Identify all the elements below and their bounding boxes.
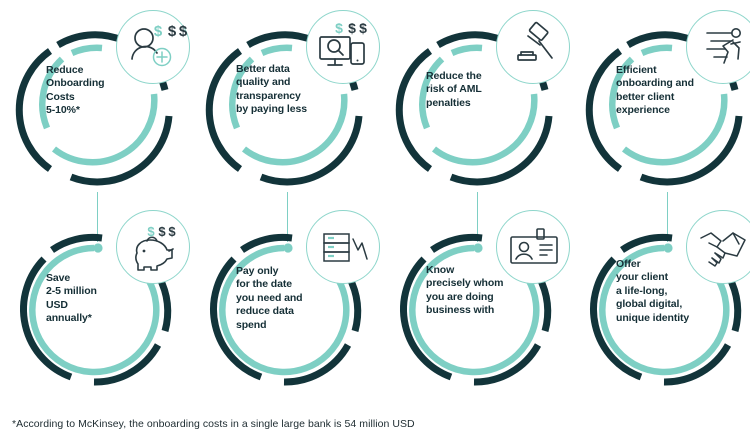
- badge-handshake[interactable]: [686, 210, 750, 284]
- inner-arc-top: [642, 48, 672, 53]
- outer-arc-right: [451, 116, 549, 182]
- outer-arc-upper-right: [349, 277, 358, 331]
- piggy-bank-dollar-icon: $ $ $: [117, 211, 191, 285]
- database-chart-icon: [307, 211, 381, 285]
- svg-text:$: $: [168, 23, 177, 40]
- connector-dot: [283, 243, 292, 252]
- runner-icon: [687, 11, 750, 85]
- badge-id-card[interactable]: [496, 210, 570, 284]
- node-efficient-onboarding: Efficient onboarding and better client e…: [576, 8, 750, 198]
- node-reduce-aml-risk: Reduce the risk of AML penalties: [386, 8, 571, 198]
- node-pay-only-for-data: Pay only for the date you need and reduc…: [196, 208, 381, 398]
- monitor-search-mobile-dollar-icon: $ $ $: [307, 11, 381, 85]
- svg-text:$: $: [147, 224, 155, 239]
- badge-gavel[interactable]: [496, 10, 570, 84]
- inner-arc-top: [72, 48, 102, 53]
- node-know-your-client: Know precisely whom you are doing busine…: [386, 208, 571, 398]
- footnote-text: *According to McKinsey, the onboarding c…: [12, 418, 415, 430]
- outer-arc-upper-right: [539, 277, 548, 331]
- outer-arc-right: [641, 116, 739, 182]
- outer-arc-right: [261, 116, 359, 182]
- badge-piggy-bank[interactable]: $ $ $: [116, 210, 190, 284]
- node-global-digital-identity: Offer your client a life-long, global di…: [576, 208, 750, 398]
- infographic-board: Reduce Onboarding Costs 5-10%* $ $ $: [0, 0, 750, 444]
- connector-dot: [93, 243, 102, 252]
- svg-text:$: $: [179, 23, 188, 40]
- node-better-data-quality: Better data quality and transparency by …: [196, 8, 381, 198]
- svg-text:$: $: [154, 23, 163, 40]
- outer-arc-right: [71, 116, 169, 182]
- connector-dot: [473, 243, 482, 252]
- badge-monitor-search-mobile[interactable]: $ $ $: [306, 10, 380, 84]
- svg-text:$: $: [359, 20, 367, 36]
- badge-user-add-dollar[interactable]: $ $ $: [116, 10, 190, 84]
- inner-arc-top: [262, 48, 292, 53]
- svg-text:$: $: [168, 224, 176, 239]
- outer-arc-upper-right: [729, 277, 738, 331]
- gavel-icon: [497, 11, 571, 85]
- id-card-icon: [497, 211, 571, 285]
- connector-dot: [663, 243, 672, 252]
- badge-runner[interactable]: [686, 10, 750, 84]
- svg-text:$: $: [348, 20, 356, 36]
- inner-arc-top: [452, 48, 482, 53]
- node-reduce-onboarding-costs: Reduce Onboarding Costs 5-10%* $ $ $: [6, 8, 191, 198]
- node-save-usd-annually: Save 2-5 million USD annually* $ $ $: [6, 208, 191, 398]
- handshake-icon: [687, 211, 750, 285]
- outer-arc-upper-right: [159, 277, 168, 331]
- user-add-dollar-icon: $ $ $: [117, 11, 191, 85]
- svg-text:$: $: [335, 20, 343, 36]
- badge-database-chart[interactable]: [306, 210, 380, 284]
- svg-text:$: $: [158, 224, 166, 239]
